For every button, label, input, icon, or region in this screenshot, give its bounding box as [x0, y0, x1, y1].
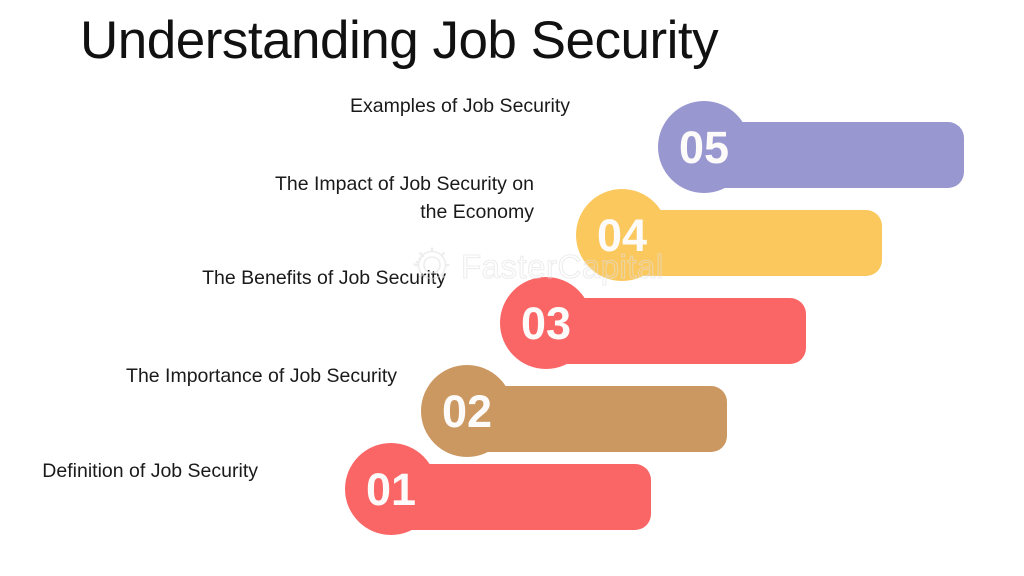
- funnel-badge-01: 01: [345, 443, 437, 535]
- slide-canvas: Understanding Job Security Examples of J…: [0, 0, 1024, 576]
- funnel-step-05[interactable]: 05: [658, 101, 964, 197]
- funnel-number-01: 01: [366, 467, 416, 512]
- step-label-04-line-1: The Impact of Job Security on: [194, 171, 534, 199]
- funnel-badge-03: 03: [500, 277, 592, 369]
- step-label-01: Definition of Job Security: [0, 458, 258, 486]
- funnel-step-01[interactable]: 01: [345, 443, 651, 539]
- step-label-02-line-1: The Importance of Job Security: [67, 363, 397, 391]
- funnel-badge-04: 04: [576, 189, 668, 281]
- funnel-step-04[interactable]: 04: [576, 189, 882, 285]
- funnel-badge-05: 05: [658, 101, 750, 193]
- step-label-05-line-1: Examples of Job Security: [240, 93, 570, 121]
- step-label-02: The Importance of Job Security: [67, 363, 397, 391]
- funnel-step-03[interactable]: 03: [500, 277, 806, 373]
- step-label-01-line-1: Definition of Job Security: [0, 458, 258, 486]
- step-label-04: The Impact of Job Security on the Econom…: [194, 171, 534, 226]
- funnel-number-02: 02: [442, 389, 492, 434]
- step-label-05: Examples of Job Security: [240, 93, 570, 121]
- funnel-number-04: 04: [597, 213, 647, 258]
- funnel-number-03: 03: [521, 301, 571, 346]
- page-title: Understanding Job Security: [80, 11, 718, 70]
- step-label-04-line-2: the Economy: [194, 199, 534, 227]
- step-label-03: The Benefits of Job Security: [116, 265, 446, 293]
- funnel-number-05: 05: [679, 125, 729, 170]
- step-label-03-line-1: The Benefits of Job Security: [116, 265, 446, 293]
